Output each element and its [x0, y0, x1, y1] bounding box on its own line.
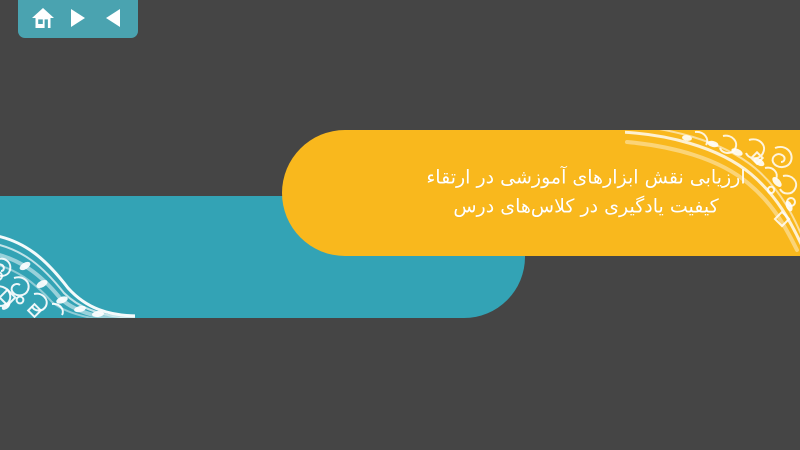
- previous-slide-button[interactable]: [100, 5, 126, 31]
- title-band: ارزیابی نقش ابزارهای آموزشی در ارتقاء کی…: [282, 130, 800, 256]
- slide-title: ارزیابی نقش ابزارهای آموزشی در ارتقاء کی…: [402, 164, 770, 223]
- slide-title-line-2: کیفیت یادگیری در کلاس‌های درس: [402, 193, 770, 222]
- slide-viewer: ارزیابی نقش ابزارهای آموزشی در ارتقاء کی…: [0, 0, 800, 450]
- navigation-bar: [18, 0, 138, 38]
- arabesque-ornament-left-icon: [0, 196, 135, 318]
- home-button[interactable]: [30, 5, 56, 31]
- next-slide-button[interactable]: [65, 5, 91, 31]
- triangle-left-icon: [103, 7, 123, 29]
- triangle-right-icon: [68, 7, 88, 29]
- home-icon: [31, 7, 55, 30]
- slide-title-line-1: ارزیابی نقش ابزارهای آموزشی در ارتقاء: [402, 164, 770, 193]
